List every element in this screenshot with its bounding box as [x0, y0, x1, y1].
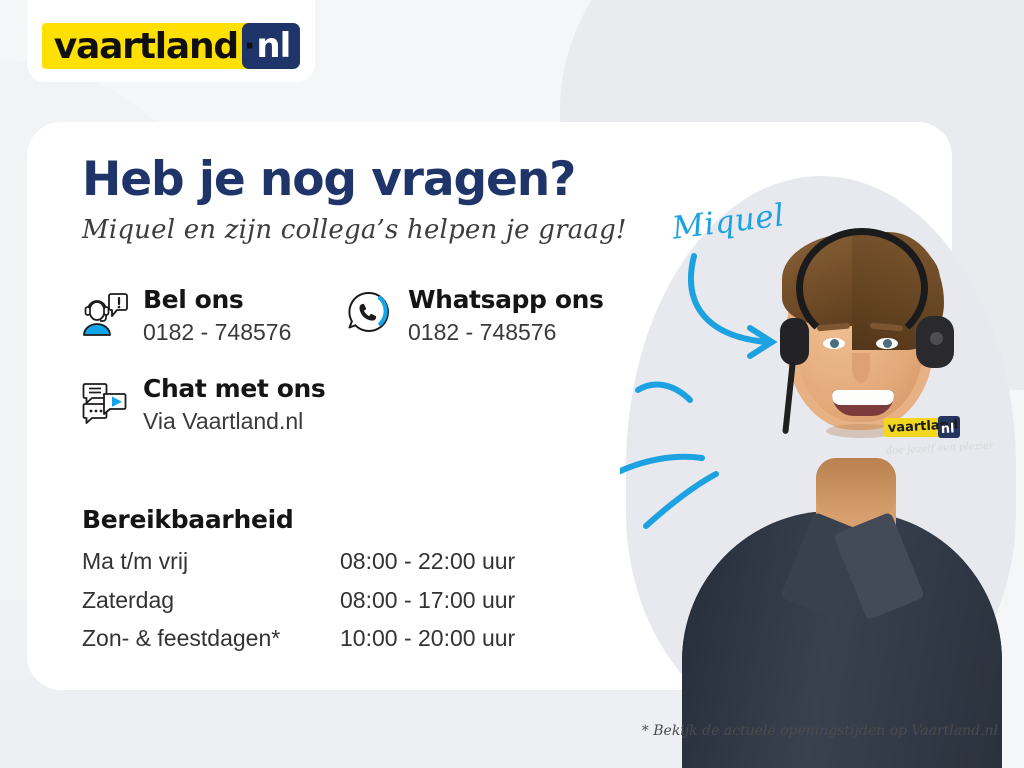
whatsapp-icon — [345, 288, 393, 338]
page-title: Heb je nog vragen? — [82, 152, 575, 207]
chat-bubbles-icon — [80, 377, 128, 427]
brand-logo-tld: ·nl — [242, 23, 300, 69]
brand-logo: vaartland ·nl — [42, 23, 301, 69]
availability-day: Ma t/m vrij — [82, 548, 340, 587]
brand-logo-main: vaartland — [42, 23, 248, 69]
agent-photo-area: vaartland nl doe jezelf een plezier Miqu… — [620, 128, 1024, 690]
contact-title-whatsapp: Whatsapp ons — [408, 286, 604, 315]
page-subtitle: Miquel en zijn collega’s helpen je graag… — [82, 215, 627, 245]
curved-arrow-icon — [691, 256, 772, 356]
contact-value-call[interactable]: 0182 - 748576 — [143, 316, 291, 349]
promo-banner: vaartland ·nl Heb je nog vragen? Miquel … — [0, 0, 1024, 768]
availability-title: Bereikbaarheid — [82, 505, 293, 534]
footer-note: * Bekijk de actuele openingstijden op Va… — [642, 723, 998, 739]
brand-logo-tld-text: nl — [256, 26, 290, 66]
availability-hours: 10:00 - 20:00 uur — [340, 625, 515, 664]
contact-item-chat[interactable]: Chat met ons Via Vaartland.nl — [80, 375, 325, 438]
headset-person-icon — [80, 288, 128, 338]
accent-strokes — [620, 385, 716, 526]
table-row: Ma t/m vrij 08:00 - 22:00 uur — [82, 548, 515, 587]
svg-text:nl: nl — [940, 421, 954, 437]
availability-table: Ma t/m vrij 08:00 - 22:00 uur Zaterdag 0… — [82, 548, 515, 664]
table-row: Zon- & feestdagen* 10:00 - 20:00 uur — [82, 625, 515, 664]
availability-day: Zaterdag — [82, 587, 340, 626]
svg-text:doe jezelf een plezier: doe jezelf een plezier — [886, 440, 996, 457]
contact-title-chat: Chat met ons — [143, 375, 325, 404]
availability-hours: 08:00 - 17:00 uur — [340, 587, 515, 626]
availability-day: Zon- & feestdagen* — [82, 625, 340, 664]
contact-value-chat[interactable]: Via Vaartland.nl — [143, 405, 325, 438]
contact-value-whatsapp[interactable]: 0182 - 748576 — [408, 316, 604, 349]
contact-title-call: Bel ons — [143, 286, 291, 315]
contact-item-call[interactable]: Bel ons 0182 - 748576 — [80, 286, 291, 349]
shirt-logo: vaartland nl doe jezelf een plezier — [884, 416, 995, 457]
availability-hours: 08:00 - 22:00 uur — [340, 548, 515, 587]
table-row: Zaterdag 08:00 - 17:00 uur — [82, 587, 515, 626]
contact-item-whatsapp[interactable]: Whatsapp ons 0182 - 748576 — [345, 286, 604, 349]
brand-logo-card[interactable]: vaartland ·nl — [27, 0, 315, 82]
brand-logo-dot: · — [244, 29, 254, 64]
